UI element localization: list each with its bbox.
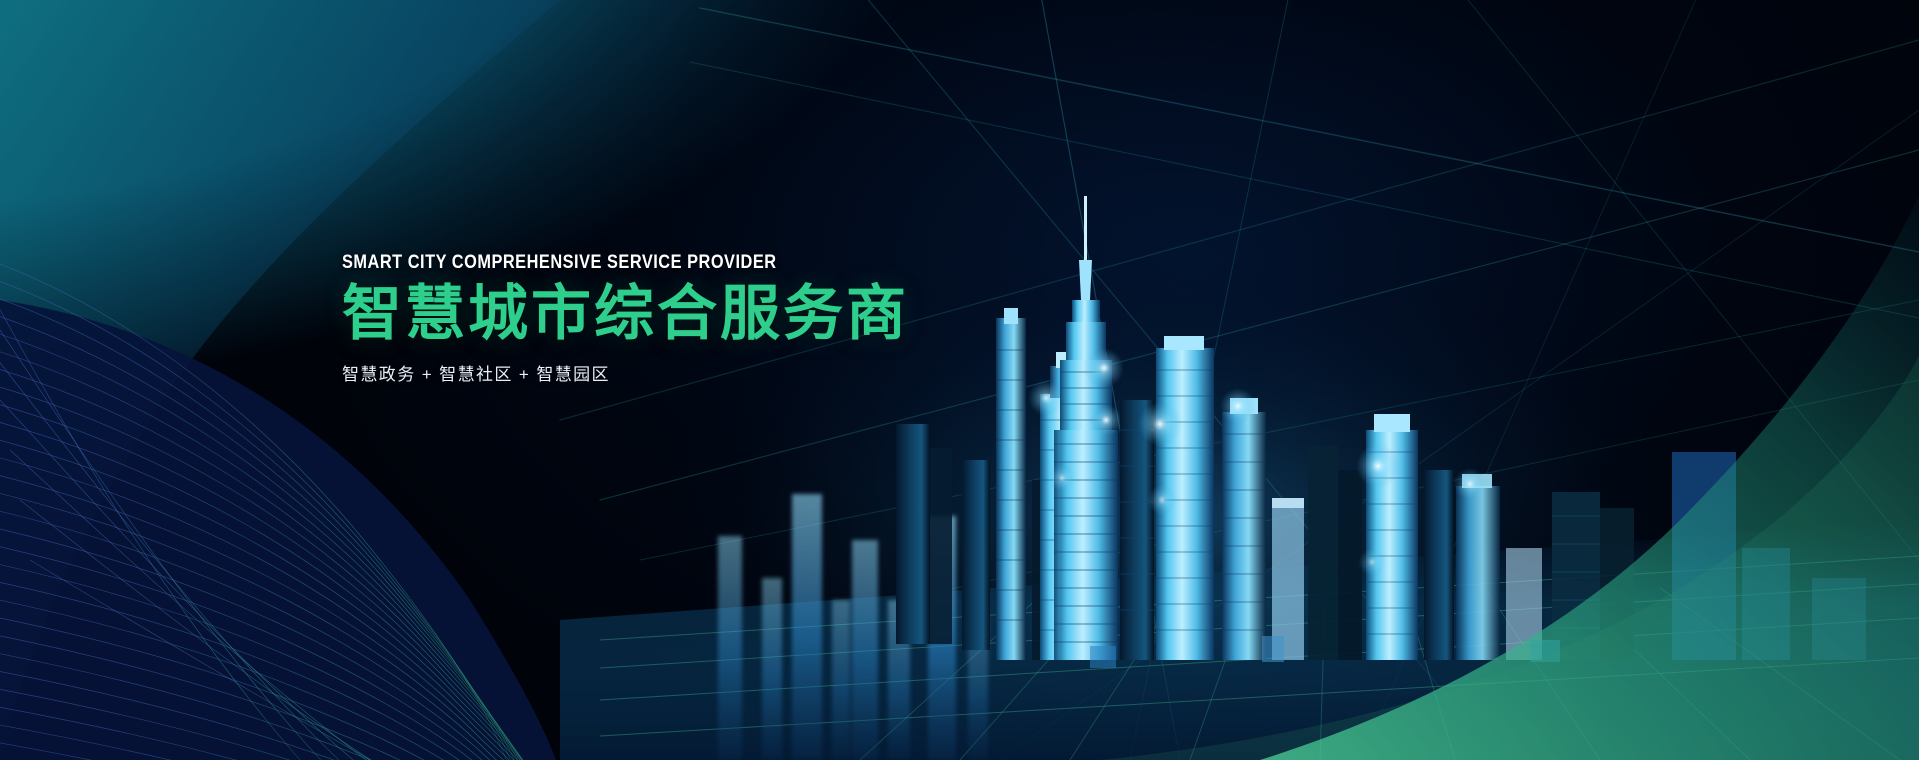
headline-text-block: SMART CITY COMPREHENSIVE SERVICE PROVIDE… xyxy=(342,252,1122,385)
tagline-text: 智慧政务 + 智慧社区 + 智慧园区 xyxy=(342,360,1122,385)
page-title: 智慧城市综合服务商 xyxy=(342,282,1122,346)
tower-medium xyxy=(1220,388,1266,660)
eyebrow-text: SMART CITY COMPREHENSIVE SERVICE PROVIDE… xyxy=(342,252,1013,274)
tower-pale-block xyxy=(1272,498,1304,660)
smart-city-banner: SMART CITY COMPREHENSIVE SERVICE PROVIDE… xyxy=(0,0,1919,760)
tower-dark-cluster xyxy=(1308,446,1362,660)
